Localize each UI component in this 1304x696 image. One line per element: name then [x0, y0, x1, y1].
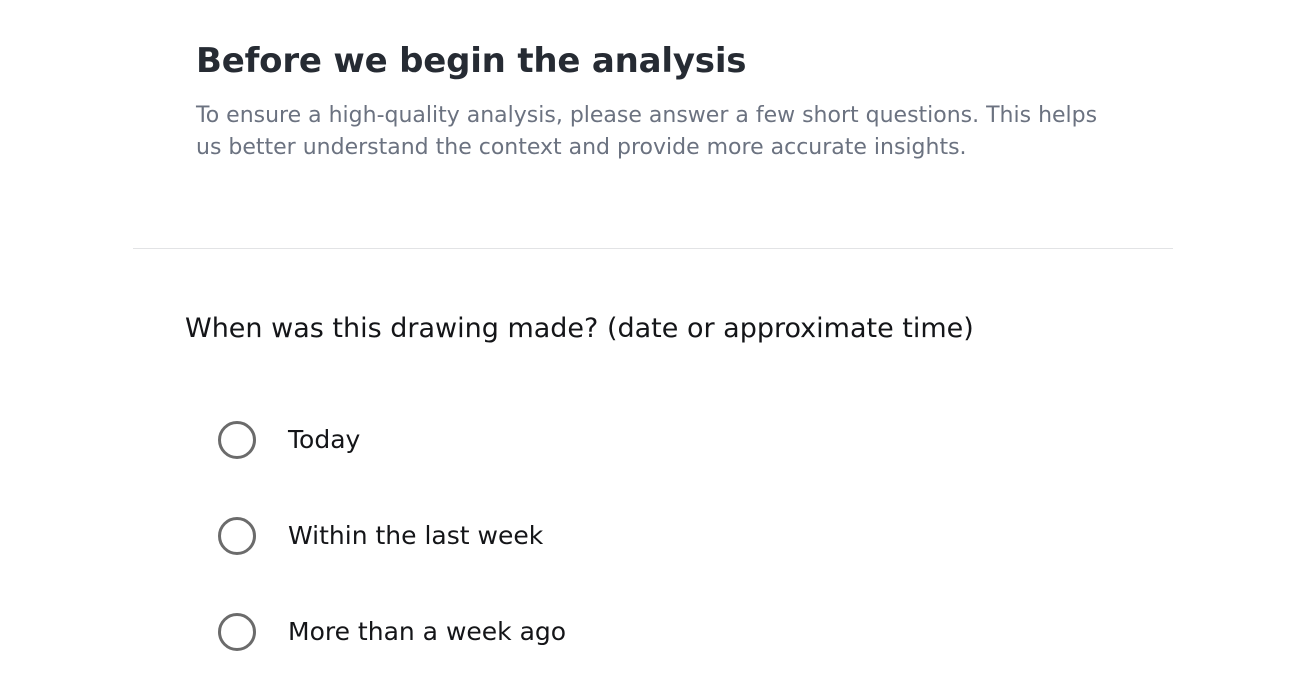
radio-option-today[interactable]: Today [218, 421, 1118, 459]
radio-option-label: Within the last week [288, 517, 543, 555]
radio-option-label: More than a week ago [288, 613, 566, 651]
radio-group-drawing-date: Today Within the last week More than a w… [218, 421, 1118, 651]
radio-circle-icon[interactable] [218, 421, 256, 459]
intro-header: Before we begin the analysis To ensure a… [196, 38, 1136, 164]
section-divider [133, 248, 1173, 249]
radio-option-more-than-a-week-ago[interactable]: More than a week ago [218, 613, 1118, 651]
radio-option-within-last-week[interactable]: Within the last week [218, 517, 1118, 555]
radio-circle-icon[interactable] [218, 517, 256, 555]
questionnaire-page: Before we begin the analysis To ensure a… [0, 0, 1304, 696]
page-subtitle: To ensure a high-quality analysis, pleas… [196, 84, 1101, 164]
radio-option-label: Today [288, 421, 360, 459]
radio-circle-icon[interactable] [218, 613, 256, 651]
page-title: Before we begin the analysis [196, 38, 1136, 84]
question-label: When was this drawing made? (date or app… [185, 310, 1185, 348]
question-block: When was this drawing made? (date or app… [185, 310, 1185, 348]
